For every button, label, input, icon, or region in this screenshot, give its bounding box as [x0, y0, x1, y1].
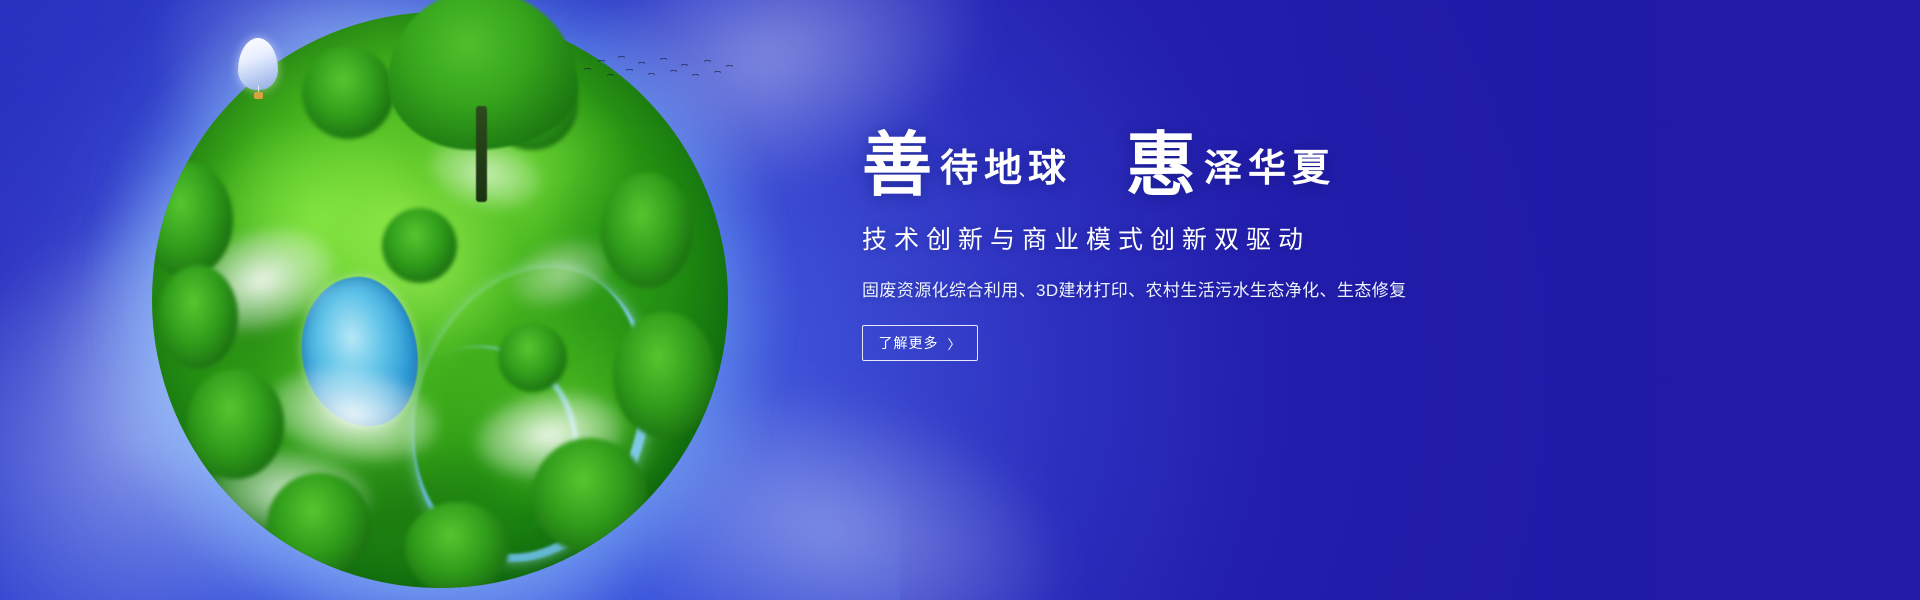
bird-icon — [648, 73, 655, 77]
hot-air-balloon-icon — [238, 38, 278, 90]
learn-more-button[interactable]: 了解更多 〉 — [862, 325, 978, 361]
bird-icon — [584, 68, 591, 72]
bird-icon — [670, 70, 677, 74]
subtitle: 技术创新与商业模式创新双驱动 — [862, 220, 1622, 256]
tree-trunk — [476, 106, 487, 202]
bird-icon — [618, 56, 625, 60]
rim-tree — [302, 47, 394, 139]
rim-tree — [382, 208, 457, 283]
bird-icon — [638, 62, 645, 66]
headline-char-hui: 惠 — [1126, 132, 1196, 202]
balloon-envelope — [238, 38, 278, 90]
balloon-basket — [254, 92, 263, 99]
tree-on-top — [388, 0, 578, 150]
description: 固废资源化综合利用、3D建材打印、农村生活污水生态净化、生态修复 — [862, 276, 1622, 301]
little-planet-image — [152, 12, 728, 588]
headline-text-daidiqiu: 待地球 — [940, 150, 1072, 188]
bird-icon — [714, 71, 721, 75]
headline-text-zehuaxia: 泽华夏 — [1204, 150, 1336, 188]
hero-banner: 善 待地球 惠 泽华夏 技术创新与商业模式创新双驱动 固废资源化综合利用、3D建… — [0, 0, 1920, 600]
rim-tree — [267, 473, 371, 577]
bird-icon — [704, 60, 711, 64]
headline: 善 待地球 惠 泽华夏 — [862, 128, 1622, 198]
rim-tree — [613, 312, 717, 439]
hero-text-block: 善 待地球 惠 泽华夏 技术创新与商业模式创新双驱动 固废资源化综合利用、3D建… — [862, 128, 1622, 361]
bird-flock-icon — [580, 46, 740, 94]
rim-tree — [187, 369, 285, 478]
chevron-right-icon: 〉 — [947, 334, 961, 353]
bird-icon — [626, 69, 633, 73]
bird-icon — [681, 64, 688, 68]
rim-tree — [498, 323, 567, 392]
rim-tree — [405, 502, 509, 588]
bird-icon — [598, 60, 605, 64]
headline-char-shan: 善 — [862, 132, 932, 202]
rim-tree — [532, 438, 647, 553]
bird-icon — [607, 74, 614, 78]
bird-icon — [726, 65, 733, 69]
learn-more-label: 了解更多 — [878, 333, 938, 353]
bird-icon — [692, 74, 699, 78]
bird-icon — [660, 58, 667, 62]
rim-tree — [158, 265, 239, 369]
